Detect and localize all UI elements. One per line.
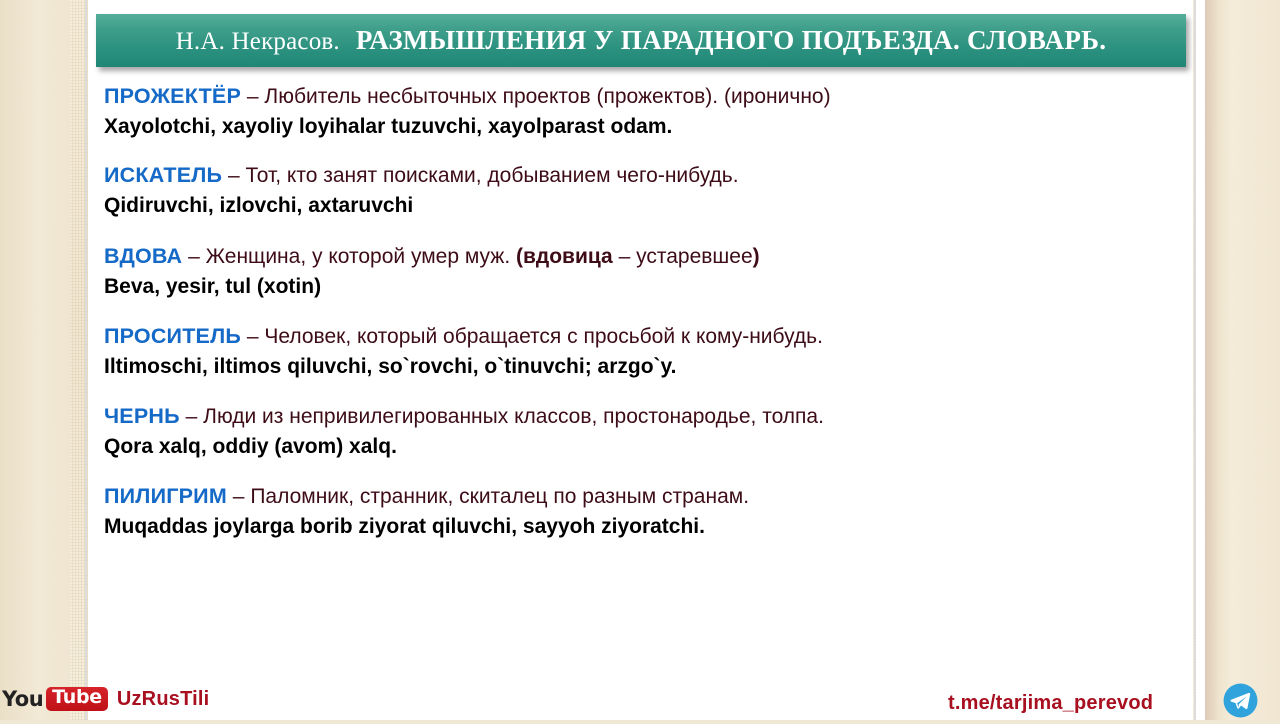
page-rule-left [85, 0, 87, 720]
title-author: Н.А. Некрасов. [176, 28, 356, 56]
youtube-channel-footer[interactable]: You Tube UzRusTili [0, 687, 209, 711]
entry-definition-line: ПРОСИТЕЛЬ – Человек, который обращается … [104, 322, 1174, 351]
entry-translation: Xayolotchi, xayoliy loyihalar tuzuvchi, … [104, 113, 1174, 141]
entry-translation: Qidiruvchi, izlovchi, axtaruvchi [104, 192, 1174, 220]
entry-dash: – [247, 85, 259, 108]
entry-definition: Любитель несбыточных проектов (прожектов… [264, 85, 830, 108]
entry-definition-note: – устаревшее [613, 245, 753, 268]
youtube-logo-icon[interactable]: You Tube [0, 687, 108, 711]
entry-translation: Muqaddas joylarga borib ziyorat qiluvchi… [104, 513, 1174, 541]
entry-headword: ПИЛИГРИМ [104, 484, 227, 508]
desk-edge-right-tint [1205, 0, 1219, 720]
page-gutter-right [1196, 0, 1205, 720]
entry-translation: Beva, yesir, tul (xotin) [104, 273, 1174, 301]
entry-translation: Iltimoschi, iltimos qiluvchi, so`rovchi,… [104, 353, 1174, 381]
desk-edge-left [0, 0, 70, 720]
entry-definition-variant: (вдовица [516, 245, 613, 268]
entry-dash: – [233, 485, 245, 508]
page-title: РАЗМЫШЛЕНИЯ У ПАРАДНОГО ПОДЪЕЗДА. СЛОВАР… [356, 25, 1106, 56]
title-banner-text: Н.А. Некрасов. РАЗМЫШЛЕНИЯ У ПАРАДНОГО П… [176, 25, 1107, 56]
page-rule-right [1194, 0, 1196, 720]
entry-dash: – [186, 405, 198, 428]
entry-dash: – [228, 164, 240, 187]
entry-definition: Женщина, у которой умер муж. [206, 245, 516, 268]
entry-definition-line: ПИЛИГРИМ – Паломник, странник, скиталец … [104, 482, 1174, 511]
entry-definition: Человек, который обращается с просьбой к… [264, 325, 823, 348]
telegram-channel-link[interactable]: t.me/tarjima_perevod [948, 692, 1153, 715]
entry-definition-close-paren: ) [753, 245, 760, 268]
youtube-you-text: You [2, 687, 43, 711]
glossary-entry: ВДОВА – Женщина, у которой умер муж. (вд… [104, 242, 1174, 301]
slide-root: Н.А. Некрасов. РАЗМЫШЛЕНИЯ У ПАРАДНОГО П… [0, 0, 1280, 720]
entry-definition-line: ПРОЖЕКТЁР – Любитель несбыточных проекто… [104, 82, 1174, 111]
entry-definition-line: ИСКАТЕЛЬ – Тот, кто занят поисками, добы… [104, 161, 1174, 190]
title-banner: Н.А. Некрасов. РАЗМЫШЛЕНИЯ У ПАРАДНОГО П… [96, 14, 1186, 67]
glossary-list: ПРОЖЕКТЁР – Любитель несбыточных проекто… [104, 82, 1174, 542]
entry-headword: ВДОВА [104, 244, 182, 268]
entry-definition: Паломник, странник, скиталец по разным с… [250, 485, 749, 508]
glossary-entry: ЧЕРНЬ – Люди из непривилегированных клас… [104, 402, 1174, 461]
entry-headword: ИСКАТЕЛЬ [104, 163, 222, 187]
entry-definition: Люди из непривилегированных классов, про… [203, 405, 824, 428]
youtube-tube-badge: Tube [46, 687, 108, 711]
entry-definition: Тот, кто занят поисками, добыванием чего… [246, 164, 739, 187]
glossary-entry: ПРОСИТЕЛЬ – Человек, который обращается … [104, 322, 1174, 381]
entry-translation: Qora xalq, oddiy (avom) xalq. [104, 433, 1174, 461]
glossary-entry: ПРОЖЕКТЁР – Любитель несбыточных проекто… [104, 82, 1174, 141]
telegram-icon[interactable] [1222, 682, 1259, 719]
entry-headword: ЧЕРНЬ [104, 404, 180, 428]
entry-dash: – [188, 245, 200, 268]
entry-headword: ПРОЖЕКТЁР [104, 84, 241, 108]
glossary-entry: ИСКАТЕЛЬ – Тот, кто занят поисками, добы… [104, 161, 1174, 220]
glossary-entry: ПИЛИГРИМ – Паломник, странник, скиталец … [104, 482, 1174, 541]
entry-headword: ПРОСИТЕЛЬ [104, 324, 241, 348]
youtube-channel-name: UzRusTili [117, 688, 210, 711]
entry-definition-line: ВДОВА – Женщина, у которой умер муж. (вд… [104, 242, 1174, 271]
entry-dash: – [247, 325, 259, 348]
entry-definition-line: ЧЕРНЬ – Люди из непривилегированных клас… [104, 402, 1174, 431]
